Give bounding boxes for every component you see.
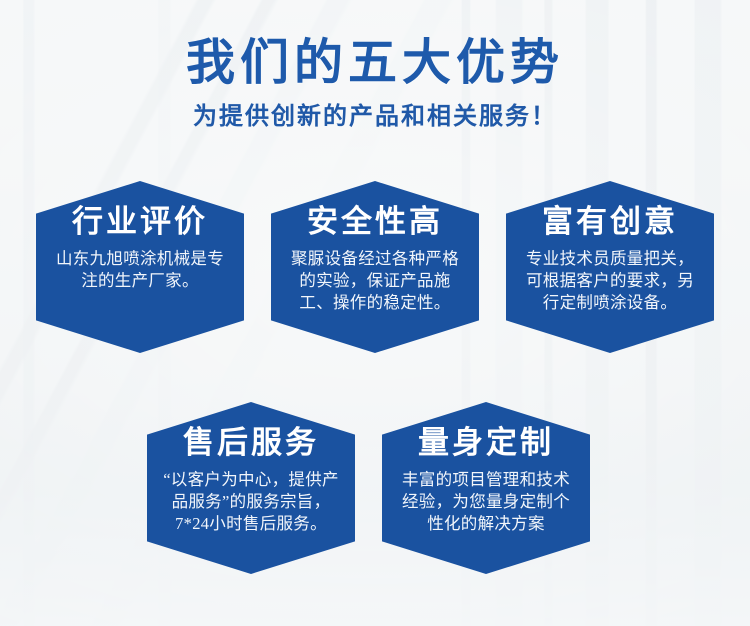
advantage-title-2: 安全性高	[280, 203, 470, 241]
advantage-hexagon-5[interactable]: 量身定制 丰富的项目管理和技术经验，为您量身定制个性化的解决方案	[382, 402, 590, 574]
advantage-body-3: 专业技术员质量把关，可根据客户的要求，另行定制喷涂设备。	[515, 248, 705, 314]
advantage-title-4: 售后服务	[156, 424, 346, 462]
advantage-body-2: 聚脲设备经过各种严格的实验，保证产品施工、操作的稳定性。	[280, 248, 470, 314]
page-title: 我们的五大优势	[0, 34, 750, 92]
advantage-title-5: 量身定制	[391, 424, 581, 462]
banner-header: 我们的五大优势 为提供创新的产品和相关服务！	[0, 34, 750, 131]
advantage-hexagon-1[interactable]: 行业评价 山东九旭喷涂机械是专注的生产厂家。	[36, 181, 244, 353]
advantage-body-1: 山东九旭喷涂机械是专注的生产厂家。	[45, 248, 235, 292]
promo-banner: 我们的五大优势 为提供创新的产品和相关服务！ 行业评价 山东九旭喷涂机械是专注的…	[0, 0, 750, 626]
page-subtitle: 为提供创新的产品和相关服务！	[0, 101, 750, 131]
advantage-hexagon-2[interactable]: 安全性高 聚脲设备经过各种严格的实验，保证产品施工、操作的稳定性。	[271, 181, 479, 353]
advantage-hexagon-3[interactable]: 富有创意 专业技术员质量把关，可根据客户的要求，另行定制喷涂设备。	[506, 181, 714, 353]
advantage-title-1: 行业评价	[45, 203, 235, 241]
advantage-body-4: “以客户为中心，提供产品服务”的服务宗旨，7*24小时售后服务。	[156, 469, 346, 535]
advantage-title-3: 富有创意	[515, 203, 705, 241]
background-floor-gradient	[0, 376, 750, 626]
advantage-body-5: 丰富的项目管理和技术经验，为您量身定制个性化的解决方案	[391, 469, 581, 535]
advantage-hexagon-4[interactable]: 售后服务 “以客户为中心，提供产品服务”的服务宗旨，7*24小时售后服务。	[147, 402, 355, 574]
